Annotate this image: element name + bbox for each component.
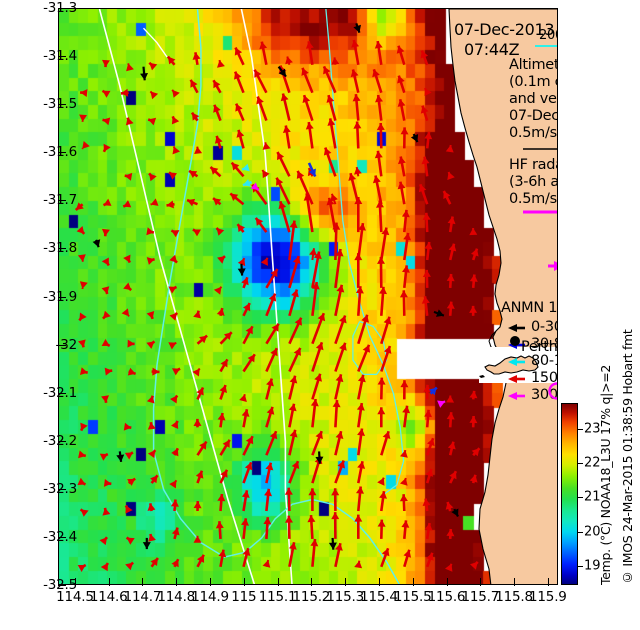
- colorbar-tick-mark: [578, 497, 583, 498]
- altimetry-line-4: 07-Dec 07Z: [509, 108, 558, 125]
- altimetry-scale-label: 0.5m/s (1kt 3h): [509, 125, 558, 142]
- y-axis-tick-mark: [58, 585, 66, 586]
- bathy-200-label: 200: [539, 27, 558, 44]
- hf-radar-line-2: (3-6h avg)noQC: [509, 174, 558, 191]
- x-axis-tick-label: 115.4: [360, 589, 398, 605]
- x-axis-tick-label: 115.1: [259, 589, 297, 605]
- coastline-layer: [59, 9, 558, 585]
- bathy-contour-swatch: [535, 43, 558, 51]
- altimetry-scale-arrow-icon: [521, 142, 558, 156]
- map-plot-area: 07-Dec-2013 07:44Z 200 1000m Altimetric …: [58, 8, 558, 585]
- x-axis-tick-mark: [514, 578, 515, 586]
- x-axis-tick-mark: [244, 578, 245, 586]
- x-axis-tick-mark: [480, 578, 481, 586]
- argo-marker-icon: [547, 381, 558, 401]
- y-axis-tick-mark: [58, 248, 66, 249]
- y-axis-tick-mark: [58, 104, 66, 105]
- credit-text: © IMOS 24-Mar-2015 01:38:59 Hobart fmt: [620, 300, 636, 585]
- y-axis-tick-mark: [58, 152, 66, 153]
- x-axis-tick-label: 115.7: [461, 589, 499, 605]
- x-axis-tick-label: 115: [231, 589, 256, 605]
- x-axis-tick-mark: [176, 578, 177, 586]
- altimetry-line-1: Altimetric sealevel: [509, 57, 558, 74]
- y-axis-tick-mark: [58, 393, 66, 394]
- y-axis-tick-mark: [58, 489, 66, 490]
- altimetry-line-3: and velocity for: [509, 91, 558, 108]
- x-axis-tick-label: 114.6: [90, 589, 128, 605]
- map-time: 07:44Z: [464, 41, 519, 58]
- hf-radar-line-1: HF radar velocity: [509, 157, 558, 174]
- x-axis-tick-label: 115.8: [495, 589, 533, 605]
- x-axis-tick-mark: [210, 578, 211, 586]
- y-axis-tick-mark: [58, 56, 66, 57]
- y-axis-tick-mark: [58, 8, 66, 9]
- colorbar-tick-mark: [578, 463, 583, 464]
- x-axis-tick-label: 114.7: [124, 589, 162, 605]
- x-axis-tick-mark: [413, 578, 414, 586]
- y-axis-tick-mark: [58, 200, 66, 201]
- x-axis-tick-mark: [75, 578, 76, 586]
- anmn-legend-label: 0-30m: [531, 319, 558, 336]
- altimetry-line-2: (0.1m contours): [509, 74, 558, 91]
- anmn-arrow-icon: [505, 390, 531, 402]
- x-axis-tick-label: 115.2: [293, 589, 331, 605]
- x-axis-tick-mark: [447, 578, 448, 586]
- anmn-legend-header: ANMN 12h av.: [501, 300, 558, 317]
- x-axis-tick-label: 114.9: [191, 589, 229, 605]
- colorbar-tick-mark: [578, 566, 583, 567]
- land-info-panel: 07-Dec-2013 07:44Z 200 1000m Altimetric …: [59, 9, 558, 585]
- x-axis-tick-label: 114.8: [157, 589, 195, 605]
- x-axis-tick-mark: [345, 578, 346, 586]
- x-axis-tick-label: 115.6: [428, 589, 466, 605]
- imos-ocean-map: 07-Dec-2013 07:44Z 200 1000m Altimetric …: [0, 0, 640, 630]
- x-axis-tick-mark: [142, 578, 143, 586]
- x-axis-tick-mark: [548, 578, 549, 586]
- y-axis-tick-mark: [58, 537, 66, 538]
- colorbar-title: Temp. (°C) NOAA18_L3U 17% q|>=2: [598, 405, 614, 585]
- anmn-arrow-icon: [505, 356, 531, 368]
- anmn-arrow-icon: [505, 373, 531, 385]
- colorbar: [561, 403, 578, 585]
- colorbar-tick-mark: [578, 429, 583, 430]
- y-axis-tick-mark: [58, 345, 66, 346]
- x-axis-tick-mark: [278, 578, 279, 586]
- y-axis-tick-mark: [58, 297, 66, 298]
- perth-city-dot-icon: [507, 333, 523, 349]
- x-axis-tick-mark: [109, 578, 110, 586]
- hf-radar-scale-arrow-icon: [521, 205, 558, 219]
- x-axis-tick-mark: [311, 578, 312, 586]
- x-axis-tick-mark: [379, 578, 380, 586]
- y-axis-tick-mark: [58, 441, 66, 442]
- x-axis-tick-label: 115.9: [529, 589, 567, 605]
- place-label-perth: Perth: [521, 339, 558, 356]
- x-axis-tick-label: 114.5: [56, 589, 94, 605]
- x-axis-tick-label: 115.5: [394, 589, 432, 605]
- colorbar-tick-mark: [578, 532, 583, 533]
- drifter-marker-icon: [547, 259, 558, 273]
- x-axis-tick-label: 115.3: [326, 589, 364, 605]
